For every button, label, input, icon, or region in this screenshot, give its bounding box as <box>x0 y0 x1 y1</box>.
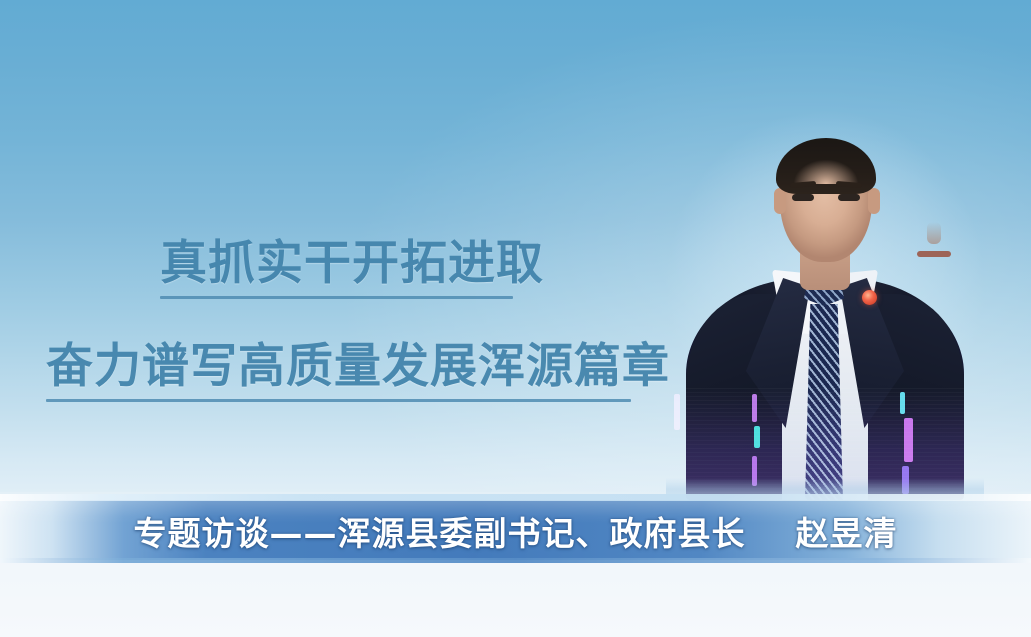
lower-third-banner: 专题访谈——浑源县委副书记、政府县长 赵昱清 <box>0 494 1031 566</box>
eye-left <box>792 194 814 201</box>
mouth <box>917 251 951 257</box>
title-underline-2 <box>46 399 631 402</box>
glitch-streak <box>904 418 913 462</box>
title-block: 真抓实干开拓进取 奋力谱写高质量发展浑源篇章 <box>0 236 700 402</box>
banner-top-highlight <box>0 494 1031 501</box>
title-underline-1 <box>160 296 513 299</box>
lapel-pin-icon <box>862 290 877 305</box>
glitch-streak <box>674 394 680 430</box>
banner-caption: 专题访谈——浑源县委副书记、政府县长 赵昱清 <box>0 502 1031 560</box>
portrait-figure <box>672 126 978 500</box>
glitch-streak <box>752 394 757 422</box>
ear-right <box>868 188 880 214</box>
eye-right <box>838 194 860 201</box>
necktie-body <box>805 304 843 500</box>
nose <box>927 222 941 244</box>
glitch-streak <box>754 426 760 448</box>
glitch-streak <box>900 392 905 414</box>
title-line-2: 奋力谱写高质量发展浑源篇章 <box>46 339 700 395</box>
title-line-1: 真抓实干开拓进取 <box>160 236 700 292</box>
ear-left <box>774 188 786 214</box>
broadcast-frame: 真抓实干开拓进取 奋力谱写高质量发展浑源篇章 <box>0 0 1031 637</box>
